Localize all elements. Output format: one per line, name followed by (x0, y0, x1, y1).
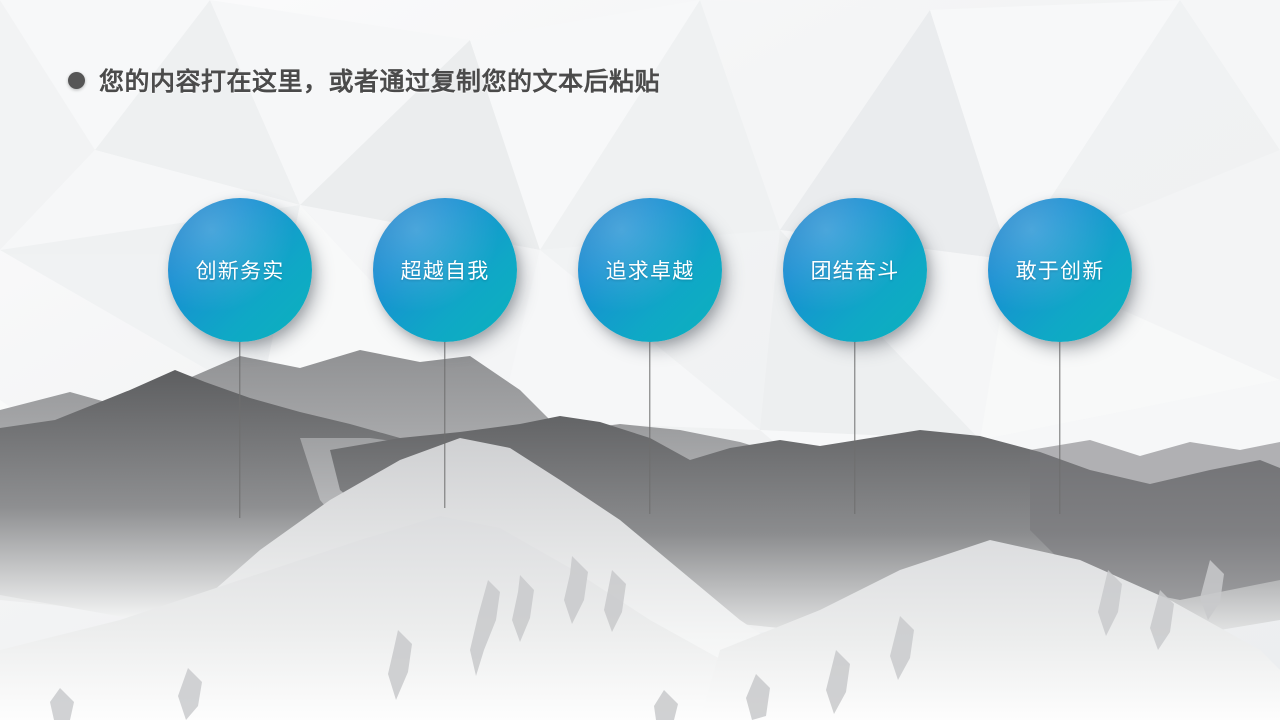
node-label-3: 追求卓越 (606, 255, 695, 285)
node-bubble-2[interactable]: 超越自我 (373, 198, 517, 342)
connector-line-1 (239, 342, 240, 518)
node-bubble-1[interactable]: 创新务实 (168, 198, 312, 342)
page-title: 您的内容打在这里，或者通过复制您的文本后粘贴 (68, 62, 660, 98)
page-title-text: 您的内容打在这里，或者通过复制您的文本后粘贴 (99, 62, 660, 98)
connector-line-2 (444, 342, 445, 508)
node-bubble-5[interactable]: 敢于创新 (988, 198, 1132, 342)
node-bubble-4[interactable]: 团结奋斗 (783, 198, 927, 342)
connector-line-4 (854, 342, 855, 514)
connector-line-3 (649, 342, 650, 514)
node-label-2: 超越自我 (401, 255, 490, 285)
mountain-silhouette (0, 320, 1280, 720)
node-label-4: 团结奋斗 (811, 255, 900, 285)
node-bubble-3[interactable]: 追求卓越 (578, 198, 722, 342)
node-label-1: 创新务实 (196, 255, 285, 285)
connector-line-5 (1059, 342, 1060, 514)
node-label-5: 敢于创新 (1016, 255, 1105, 285)
slide-canvas: 您的内容打在这里，或者通过复制您的文本后粘贴 创新务实 超越自我 追求卓越 团结… (0, 0, 1280, 720)
bullet-dot-icon (68, 72, 85, 89)
